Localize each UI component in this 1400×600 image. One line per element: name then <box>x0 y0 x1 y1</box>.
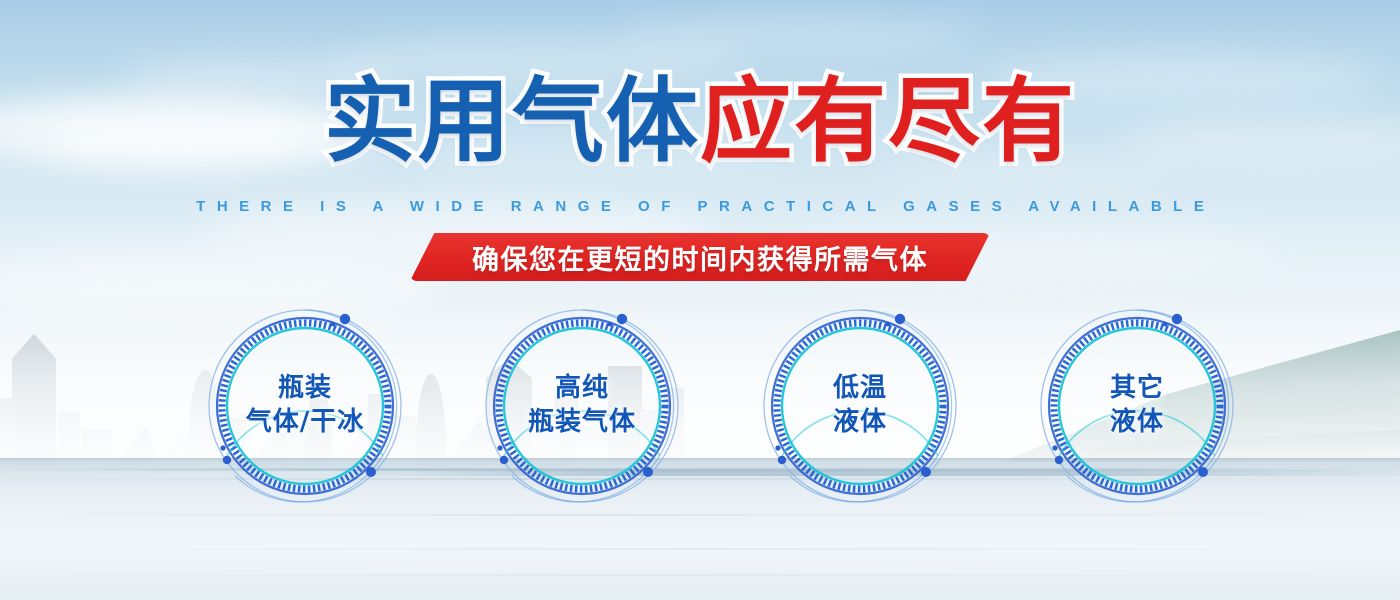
category-label-line1: 瓶装 <box>278 372 332 406</box>
category-label-line2: 液体 <box>833 406 887 440</box>
category-label-line2: 液体 <box>1110 406 1164 440</box>
category-circle-cryogenic-liquid[interactable]: 低温 液体 <box>760 306 960 506</box>
category-label-line1: 低温 <box>833 372 887 406</box>
water-ripple <box>0 574 1400 576</box>
ribbon-container: 确保您在更短的时间内获得所需气体 <box>0 233 1400 283</box>
category-circle-row: 瓶装 气体/干冰 高纯 瓶装气体 <box>0 306 1400 506</box>
headline-blue-part: 实用气体 <box>324 68 700 175</box>
category-label-line2: 瓶装气体 <box>528 406 636 440</box>
category-label-line1: 其它 <box>1110 372 1164 406</box>
cloud-shape <box>620 18 980 52</box>
promo-banner: 实用气体应有尽有 THERE IS A WIDE RANGE OF PRACTI… <box>0 0 1400 600</box>
category-label-line2: 气体/干冰 <box>246 406 365 440</box>
category-label: 高纯 瓶装气体 <box>482 306 682 506</box>
ribbon-text: 确保您在更短的时间内获得所需气体 <box>410 233 990 281</box>
page-title: 实用气体应有尽有 <box>0 76 1400 168</box>
category-circle-other-liquid[interactable]: 其它 液体 <box>1037 306 1237 506</box>
category-circle-high-purity-bottled-gas[interactable]: 高纯 瓶装气体 <box>482 306 682 506</box>
category-label: 其它 液体 <box>1037 306 1237 506</box>
category-label: 低温 液体 <box>760 306 960 506</box>
category-label-line1: 高纯 <box>555 372 609 406</box>
water-ripple <box>0 548 1400 550</box>
subtitle-english: THERE IS A WIDE RANGE OF PRACTICAL GASES… <box>0 198 1400 215</box>
category-label: 瓶装 气体/干冰 <box>205 306 405 506</box>
category-circle-bottled-gas-dry-ice[interactable]: 瓶装 气体/干冰 <box>205 306 405 506</box>
water-ripple <box>0 514 1400 516</box>
headline-red-part: 应有尽有 <box>700 68 1076 175</box>
